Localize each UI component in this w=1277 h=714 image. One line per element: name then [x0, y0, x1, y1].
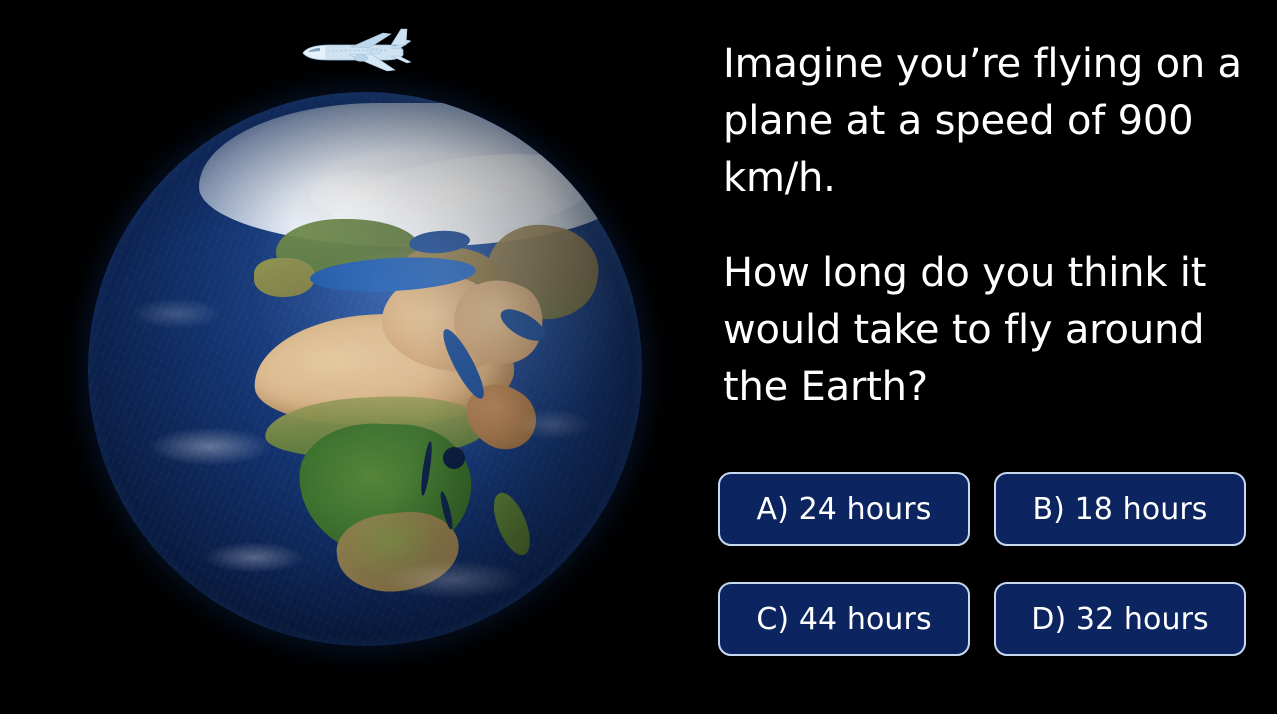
- question-paragraph-1: Imagine you’re flying on a plane at a sp…: [723, 36, 1253, 207]
- earth-illustration-panel: [0, 0, 700, 714]
- question-panel: Imagine you’re flying on a plane at a sp…: [700, 0, 1277, 714]
- earth-globe: [88, 92, 642, 646]
- question-paragraph-2: How long do you think it would take to f…: [723, 245, 1253, 416]
- quiz-slide: Imagine you’re flying on a plane at a sp…: [0, 0, 1277, 714]
- answer-option-c[interactable]: C) 44 hours: [718, 582, 970, 656]
- globe-shading: [88, 92, 642, 646]
- answer-option-d[interactable]: D) 32 hours: [994, 582, 1246, 656]
- airplane-icon: [291, 27, 411, 77]
- answer-options-grid: A) 24 hours B) 18 hours C) 44 hours D) 3…: [718, 472, 1238, 656]
- answer-option-b[interactable]: B) 18 hours: [994, 472, 1246, 546]
- answer-option-a[interactable]: A) 24 hours: [718, 472, 970, 546]
